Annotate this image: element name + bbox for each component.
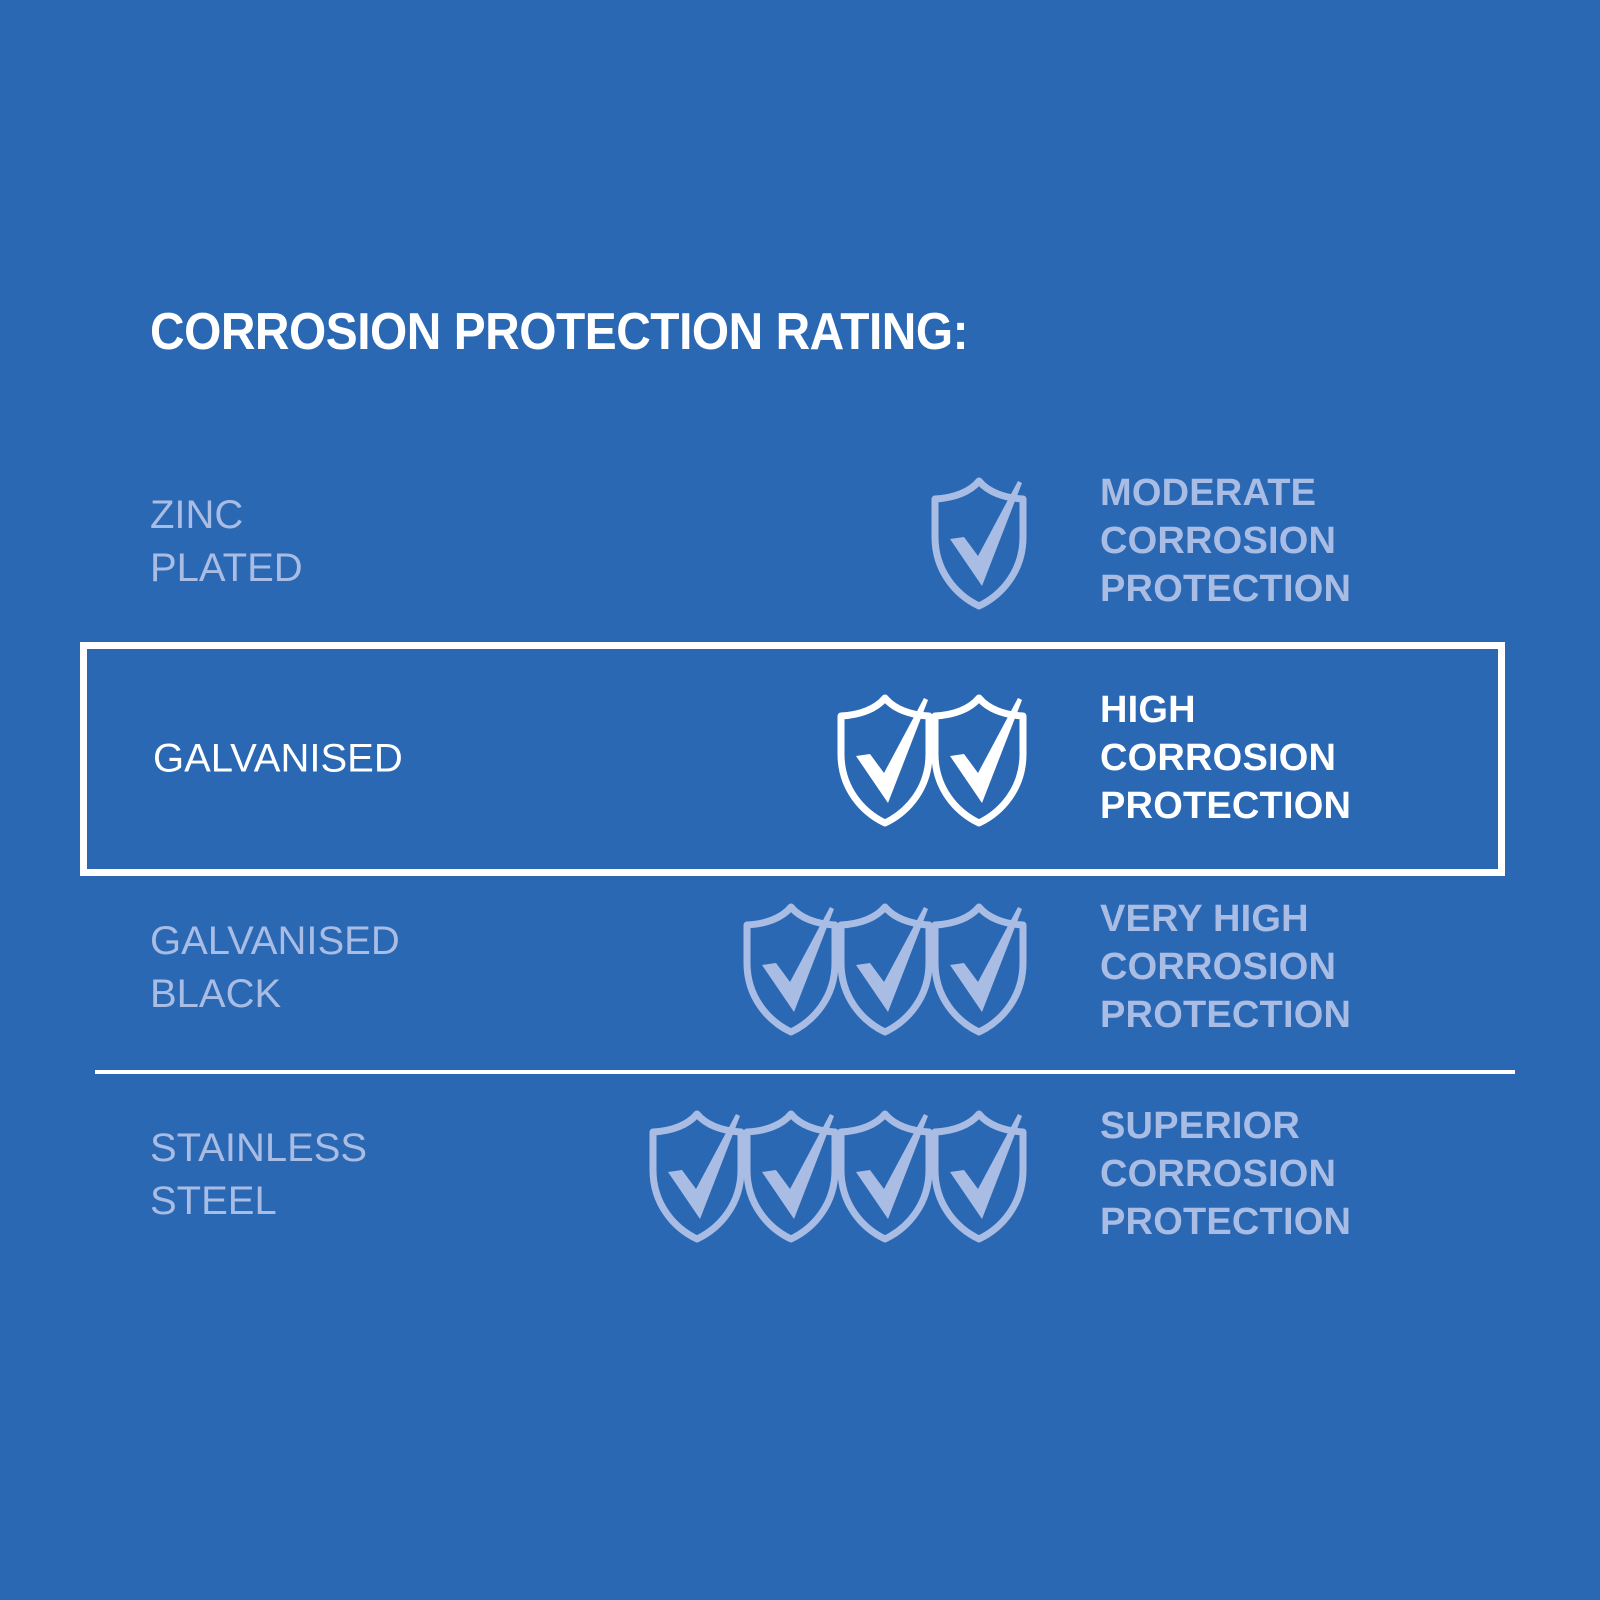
material-label-zinc-plated: ZINC PLATED [150, 489, 303, 595]
shield-check-icon [738, 901, 844, 1035]
rating-label-zinc-plated: MODERATE CORROSION PROTECTION [1100, 470, 1351, 614]
shield-check-icon [926, 475, 1032, 609]
material-label-galvanised-black: GALVANISED BLACK [150, 915, 400, 1021]
shield-group-galvanised-black [738, 901, 1032, 1035]
material-label-galvanised: GALVANISED [153, 732, 403, 785]
shield-check-icon [926, 692, 1032, 826]
shield-check-icon [644, 1108, 750, 1242]
shield-check-icon [832, 692, 938, 826]
shield-check-icon [926, 1108, 1032, 1242]
rating-row-stainless-steel: STAINLESS STEEL SUPERIOR CORROSION PROTE… [0, 1095, 1600, 1255]
rating-label-stainless-steel: SUPERIOR CORROSION PROTECTION [1100, 1103, 1351, 1247]
rating-row-galvanised-black: GALVANISED BLACK VERY HIGH CORROSION PRO… [0, 888, 1600, 1048]
section-divider [95, 1070, 1515, 1074]
material-label-stainless-steel: STAINLESS STEEL [150, 1122, 367, 1228]
shield-check-icon [926, 901, 1032, 1035]
shield-group-stainless-steel [644, 1108, 1032, 1242]
rating-row-galvanised: GALVANISED HIGH CORROSION PROTECTION [0, 642, 1600, 876]
rating-label-galvanised: HIGH CORROSION PROTECTION [1100, 687, 1351, 831]
shield-group-zinc-plated [926, 475, 1032, 609]
shield-check-icon [832, 901, 938, 1035]
rating-row-zinc-plated: ZINC PLATED MODERATE CORROSION PROTECTIO… [0, 462, 1600, 622]
infographic-canvas: CORROSION PROTECTION RATING: ZINC PLATED… [0, 0, 1600, 1600]
shield-check-icon [738, 1108, 844, 1242]
page-title: CORROSION PROTECTION RATING: [150, 306, 968, 358]
shield-group-galvanised [832, 692, 1032, 826]
shield-check-icon [832, 1108, 938, 1242]
rating-label-galvanised-black: VERY HIGH CORROSION PROTECTION [1100, 896, 1351, 1040]
